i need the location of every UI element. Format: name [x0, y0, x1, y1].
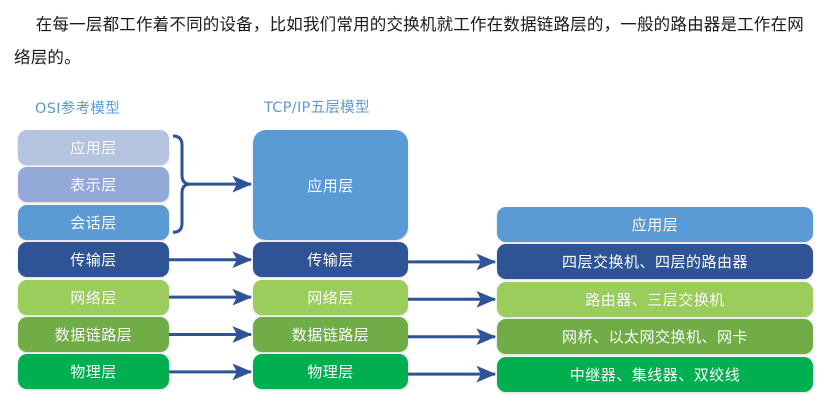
osi-layer-network[interactable]: 网络层	[18, 280, 169, 315]
osi-layer-label: 会话层	[70, 212, 117, 233]
tcpip-column-title: TCP/IP五层模型	[264, 96, 370, 117]
osi-layer-label: 传输层	[70, 249, 117, 270]
device-layer-datalink[interactable]: 网桥、以太网交换机、网卡	[497, 319, 813, 354]
osi-layer-label: 物理层	[70, 361, 117, 382]
osi-layer-session[interactable]: 会话层	[18, 205, 169, 240]
tcpip-layer-label: 数据链路层	[292, 324, 370, 345]
device-layer-physical[interactable]: 中继器、集线器、双绞线	[497, 357, 813, 392]
osi-tcpip-layer-diagram: OSI参考模型 TCP/IP五层模型 应用层 表示层 会话层 传输层 网络层 数…	[0, 85, 831, 413]
intro-paragraph: 在每一层都工作着不同的设备，比如我们常用的交换机就工作在数据链路层的，一般的路由…	[14, 8, 820, 74]
tcpip-layer-label: 物理层	[307, 361, 354, 382]
device-layer-label: 路由器、三层交换机	[585, 289, 725, 310]
tcpip-layer-label: 网络层	[307, 287, 354, 308]
osi-layer-application[interactable]: 应用层	[18, 130, 169, 165]
osi-layer-transport[interactable]: 传输层	[18, 242, 169, 277]
tcpip-layer-label: 传输层	[307, 249, 354, 270]
device-layer-application[interactable]: 应用层	[497, 207, 813, 242]
tcpip-layer-transport[interactable]: 传输层	[253, 242, 408, 277]
device-layer-network[interactable]: 路由器、三层交换机	[497, 282, 813, 317]
device-layer-label: 应用层	[632, 214, 679, 235]
device-layer-transport[interactable]: 四层交换机、四层的路由器	[497, 244, 813, 279]
osi-column-title: OSI参考模型	[35, 97, 120, 118]
device-layer-label: 中继器、集线器、双绞线	[570, 364, 741, 385]
osi-upper-layers-brace	[173, 136, 190, 232]
osi-layer-label: 数据链路层	[55, 324, 133, 345]
osi-layer-label: 网络层	[70, 287, 117, 308]
device-layer-label: 网桥、以太网交换机、网卡	[562, 326, 748, 347]
osi-layer-datalink[interactable]: 数据链路层	[18, 317, 169, 352]
tcpip-layer-network[interactable]: 网络层	[253, 280, 408, 315]
osi-layer-label: 表示层	[70, 174, 117, 195]
tcpip-layer-physical[interactable]: 物理层	[253, 354, 408, 389]
device-layer-label: 四层交换机、四层的路由器	[562, 251, 748, 272]
tcpip-layer-label: 应用层	[307, 175, 354, 196]
tcpip-layer-datalink[interactable]: 数据链路层	[253, 317, 408, 352]
osi-layer-label: 应用层	[70, 137, 117, 158]
osi-layer-presentation[interactable]: 表示层	[18, 167, 169, 202]
osi-layer-physical[interactable]: 物理层	[18, 354, 169, 389]
tcpip-layer-application[interactable]: 应用层	[253, 130, 408, 240]
